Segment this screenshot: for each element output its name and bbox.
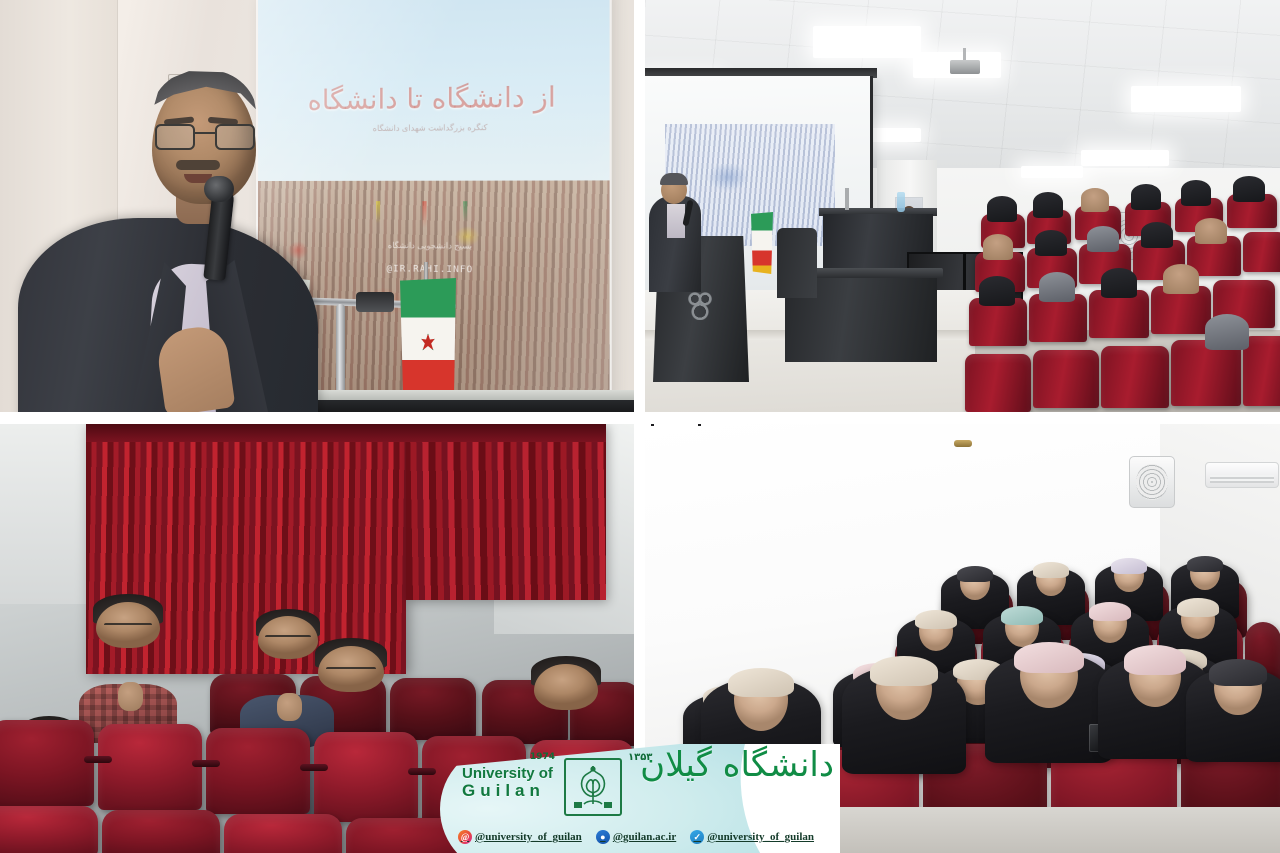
ceiling-panel-light xyxy=(1131,86,1241,112)
student-body xyxy=(96,634,160,730)
audience-member xyxy=(979,276,1015,306)
speaker-glasses xyxy=(155,124,255,154)
student-headscarf xyxy=(915,610,957,629)
audience-member xyxy=(1141,222,1173,248)
stage-curtain-right xyxy=(406,424,606,600)
auditorium-seat xyxy=(0,720,94,806)
instagram-icon: @ xyxy=(458,830,472,844)
student-headscarf xyxy=(728,668,794,698)
seat-armrest xyxy=(300,764,328,771)
handbag-strap xyxy=(651,424,701,426)
audience-member xyxy=(1033,192,1063,218)
speaker-moustache xyxy=(176,160,220,170)
student xyxy=(1207,656,1269,734)
audience-member xyxy=(1035,230,1067,256)
audience-member xyxy=(1039,272,1075,302)
student-headscarf xyxy=(870,656,938,687)
wall-highlight-left xyxy=(0,424,90,604)
audience-member xyxy=(1163,264,1199,294)
audience-member xyxy=(987,196,1017,222)
student-headscarf xyxy=(1209,659,1266,686)
audience-member xyxy=(1087,226,1119,252)
university-name-persian: دانشگاه گیلان xyxy=(622,748,834,818)
student-headscarf xyxy=(1187,556,1224,572)
iran-flag xyxy=(751,212,773,274)
auditorium-seat xyxy=(390,678,476,740)
stage-chair xyxy=(777,228,817,298)
student xyxy=(1109,556,1149,604)
seat-armrest xyxy=(408,768,436,775)
water-bottle xyxy=(897,192,905,212)
photo-top-left-speaker: از دانشگاه تا دانشگاه کنگره بزرگداشت شهد… xyxy=(0,0,634,412)
speaker-hair xyxy=(660,173,688,185)
student-glasses xyxy=(326,667,376,677)
guilan-university-emblem-icon xyxy=(564,758,622,816)
auditorium-seat xyxy=(206,728,310,814)
telegram-handle: @university_of_guilan xyxy=(707,831,814,843)
student-hand xyxy=(277,693,302,721)
student-headscarf xyxy=(1014,642,1084,673)
flag-pole xyxy=(424,262,428,282)
auditorium-seat xyxy=(965,354,1031,412)
ceiling-panel-light xyxy=(813,26,921,58)
student-glasses xyxy=(104,623,153,633)
auditorium-seat xyxy=(224,814,342,853)
auditorium-seat xyxy=(1033,350,1099,408)
auditorium-seat xyxy=(314,732,418,822)
glasses-lens-left xyxy=(155,124,195,150)
auditorium-seat xyxy=(98,724,202,810)
glasses-bridge xyxy=(195,132,215,134)
photo-collage: از دانشگاه تا دانشگاه کنگره بزرگداشت شهد… xyxy=(0,0,1280,853)
auditorium-seat xyxy=(0,806,98,853)
social-link-instagram[interactable]: @ @university_of_guilan xyxy=(458,830,582,844)
social-link-telegram[interactable]: ✓ @university_of_guilan xyxy=(690,830,814,844)
microphone-clip xyxy=(356,292,394,312)
instagram-handle: @university_of_guilan xyxy=(475,831,582,843)
curtain-valance xyxy=(86,424,606,442)
glasses-lens-right xyxy=(215,124,255,150)
audience-member xyxy=(1131,184,1161,210)
speaker-grill xyxy=(1136,464,1168,500)
audience-member xyxy=(1205,314,1249,350)
seat-armrest xyxy=(192,760,220,767)
split-ac-unit xyxy=(1205,462,1279,488)
social-handles: @ @university_of_guilan ● @guilan.ac.ir … xyxy=(458,830,830,844)
student xyxy=(867,652,941,742)
student xyxy=(1185,554,1225,602)
audience-member xyxy=(983,234,1013,260)
founding-year-gregorian: 1974 xyxy=(530,752,555,762)
student xyxy=(1031,560,1071,608)
photo-top-right-hall xyxy=(645,0,1280,412)
stage-table-top xyxy=(300,390,634,400)
handbag-clasp xyxy=(954,440,972,447)
student-hand xyxy=(118,682,144,711)
iran-flag-emblem xyxy=(420,333,436,351)
student-headscarf xyxy=(1001,606,1043,625)
audience-member xyxy=(1101,268,1137,298)
podium-emblem xyxy=(687,288,713,320)
audience-member xyxy=(1081,188,1109,212)
faucet xyxy=(845,188,849,210)
student-headscarf xyxy=(1177,598,1219,617)
audience-member xyxy=(1233,176,1265,202)
audience-member xyxy=(1195,218,1227,244)
wall-speaker-unit xyxy=(1129,456,1175,508)
microphone-head xyxy=(204,176,234,202)
website-handle: @guilan.ac.ir xyxy=(613,831,676,843)
auditorium-seat xyxy=(102,810,220,853)
student-headscarf xyxy=(1124,645,1187,674)
seat-armrest xyxy=(84,756,112,763)
student-headscarf xyxy=(1089,602,1131,621)
ceiling-projector xyxy=(950,60,980,74)
student xyxy=(1121,642,1189,728)
bale-messenger-icon: ● xyxy=(596,830,610,844)
audience-member xyxy=(1181,180,1211,206)
auditorium-seat xyxy=(1243,232,1280,272)
student xyxy=(955,564,995,612)
audience-seating-area xyxy=(975,168,1280,412)
ac-vent xyxy=(1210,475,1274,483)
social-link-bale[interactable]: ● @guilan.ac.ir xyxy=(596,830,676,844)
university-branding-banner: 1974 ۱۳۵۳ University of Guilan xyxy=(440,744,840,853)
student-headscarf xyxy=(1033,562,1070,578)
student-body xyxy=(256,646,318,740)
auditorium-seat xyxy=(1101,346,1169,408)
student-headscarf xyxy=(957,566,994,582)
telegram-icon: ✓ xyxy=(690,830,704,844)
student xyxy=(1011,638,1087,730)
student xyxy=(725,664,797,752)
ceiling-panel-light xyxy=(1081,150,1169,166)
student-glasses xyxy=(265,635,311,644)
student-headscarf xyxy=(1111,558,1148,574)
